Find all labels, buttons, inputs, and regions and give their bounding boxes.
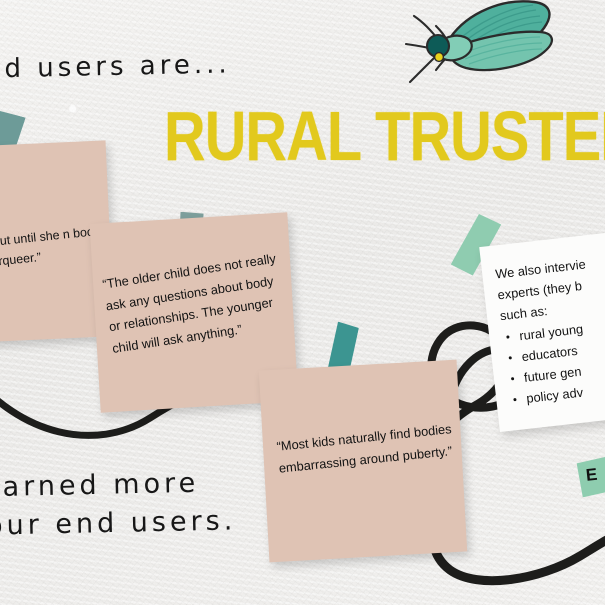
card-bullet-4: policy adv	[526, 385, 584, 406]
sticky-note-puberty-text: “Most kids naturally find bodies embarra…	[276, 418, 457, 479]
bullet-dot-icon	[513, 398, 516, 401]
page-title: RURAL TRUSTED A	[164, 103, 605, 172]
handwritten-bottom-line-1: earned more	[0, 468, 199, 504]
handwritten-bottom-line-2: our end users.	[0, 505, 237, 541]
bullet-dot-icon	[506, 335, 509, 338]
sticky-note-older-child-text: “The older child does not really ask any…	[101, 247, 294, 359]
bullet-dot-icon	[511, 377, 514, 380]
sticky-note-puberty[interactable]: “Most kids naturally find bodies embarra…	[259, 360, 467, 563]
status-badge-label: E	[585, 465, 598, 486]
card-experts[interactable]: We also intervie experts (they b such as…	[479, 226, 605, 432]
slide-canvas: RURAL TRUSTED A nd users are... earned m…	[0, 0, 605, 605]
handwritten-top-line: nd users are...	[0, 49, 231, 84]
bullet-dot-icon	[509, 356, 512, 359]
moth-icon	[392, 0, 570, 96]
